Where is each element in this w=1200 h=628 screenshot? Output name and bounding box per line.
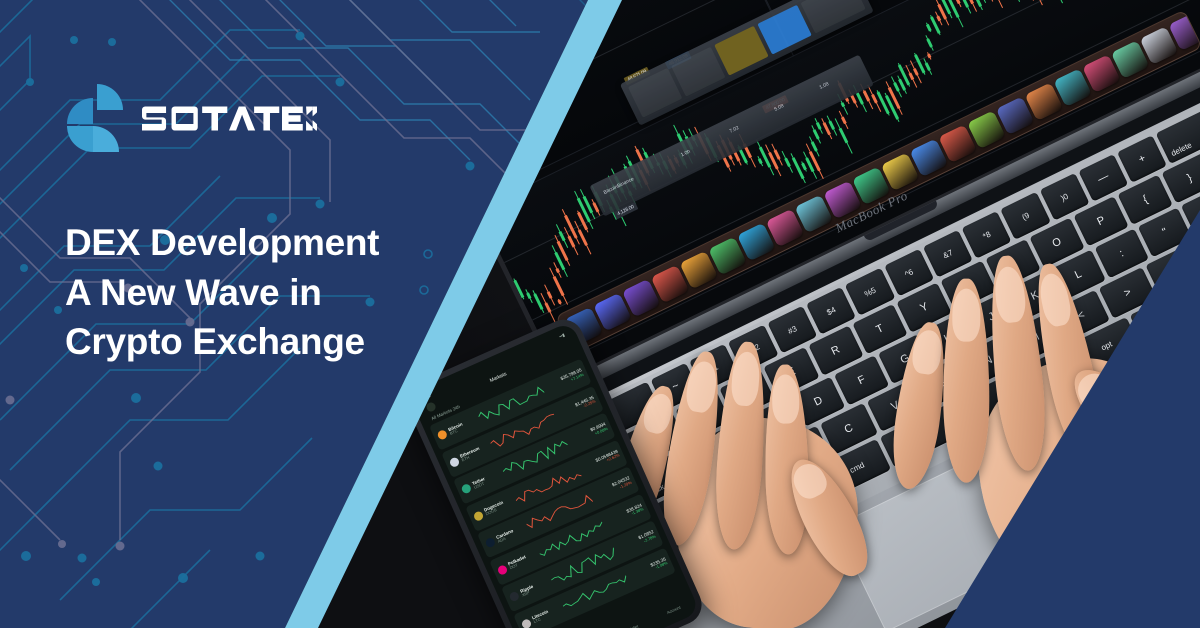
coin-name-block: RippleXRP bbox=[519, 577, 550, 598]
phone-header-title: Markets bbox=[489, 371, 508, 384]
headline-line-2: A New Wave in bbox=[65, 268, 485, 318]
chart-interval-3: 5.08 bbox=[774, 103, 785, 113]
sotatek-wordmark bbox=[142, 103, 317, 134]
coin-value-block: $2.04532-1.29% bbox=[592, 476, 633, 502]
headline-line-1: DEX Development bbox=[65, 218, 485, 268]
phone-nav-item[interactable]: Account bbox=[666, 604, 681, 614]
banner-root: 48,671.0948,912.094,128.121,150.884,128.… bbox=[0, 0, 1200, 628]
chart-interval-4: 1.08 bbox=[818, 81, 829, 91]
coin-icon bbox=[460, 483, 472, 495]
coin-icon bbox=[508, 591, 520, 603]
sotatek-s-mark-icon bbox=[64, 82, 126, 154]
coin-value-block: $1.0852-2.78% bbox=[616, 529, 657, 555]
coin-value-block: $0.0598439+2.62% bbox=[580, 449, 621, 475]
coin-name-block: CardanoADA bbox=[495, 523, 526, 544]
phone-nav-item[interactable]: Wallet bbox=[627, 623, 639, 628]
coin-icon bbox=[436, 429, 448, 441]
coin-name-block: PolkadotDOT bbox=[507, 550, 538, 571]
coin-value-block: $235.35-1.08% bbox=[628, 556, 669, 582]
coin-value-block: $38.824-1.38% bbox=[604, 502, 645, 528]
coin-name-block: DogecoinDOGE bbox=[483, 496, 514, 517]
chart-interval-1: 1.0h bbox=[680, 149, 691, 159]
coin-value-block: $35,798.05+7.14% bbox=[544, 368, 585, 394]
coin-value-block: $1,446.35-2.25% bbox=[556, 395, 597, 421]
coin-icon bbox=[472, 510, 484, 522]
sotatek-logo bbox=[64, 82, 317, 154]
coin-name-block: BitcoinBTC bbox=[447, 415, 478, 436]
coin-icon bbox=[448, 456, 460, 468]
chart-interval-2: 7.02 bbox=[729, 125, 740, 135]
phone-status-icons: ▪▪▮ bbox=[558, 332, 566, 340]
coin-icon bbox=[520, 618, 532, 628]
coin-name-block: TetherUSDT bbox=[471, 469, 502, 490]
coin-name-block: EthereumETH bbox=[459, 442, 490, 463]
chart-symbol-label: BitcoinBinance bbox=[603, 176, 635, 196]
coin-name-block: LitecoinLTC bbox=[531, 604, 562, 625]
coin-icon bbox=[496, 564, 508, 576]
coin-icon bbox=[484, 537, 496, 549]
coin-value-block: $0.9994+0.08% bbox=[568, 422, 609, 448]
